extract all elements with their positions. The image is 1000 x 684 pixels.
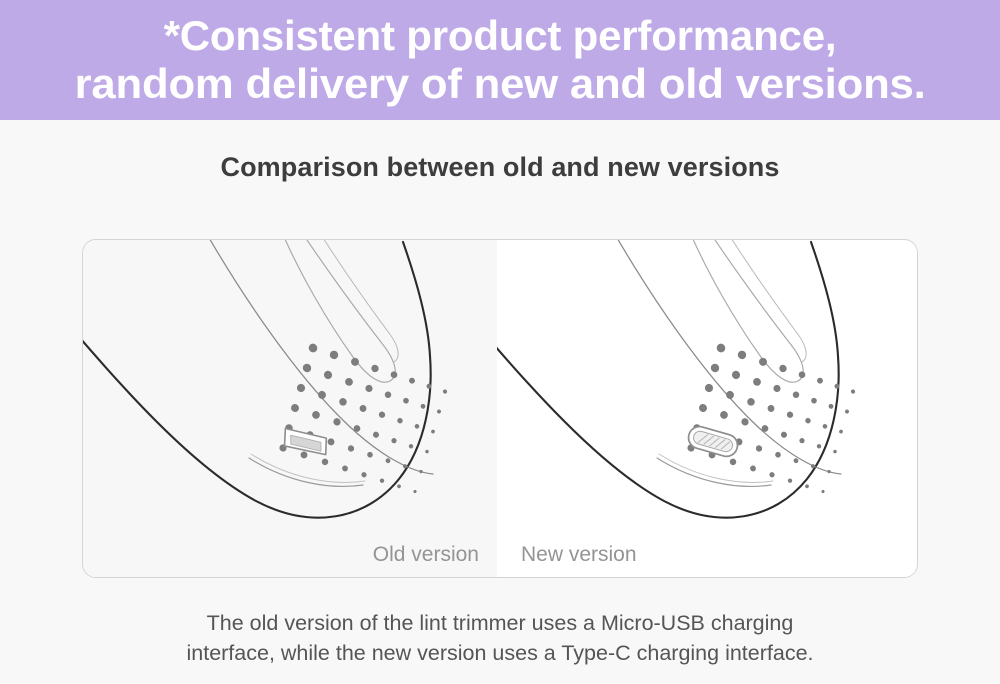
comparison-half-old: Old version <box>83 240 497 577</box>
promo-banner: *Consistent product performance, random … <box>0 0 1000 120</box>
section-title: Comparison between old and new versions <box>0 152 1000 183</box>
caption-old-version: Old version <box>373 543 479 567</box>
caption-new-version: New version <box>521 543 637 567</box>
type-c-port-icon <box>686 424 740 459</box>
product-comparison-page: *Consistent product performance, random … <box>0 0 1000 684</box>
comparison-panel: Old version <box>82 239 918 578</box>
description-line-2: interface, while the new version uses a … <box>0 638 1000 668</box>
comparison-half-new: New version <box>497 240 917 577</box>
new-version-device-illustration <box>497 240 909 546</box>
promo-banner-line-2: random delivery of new and old versions. <box>75 63 926 105</box>
device-lens-inner-left <box>313 240 398 362</box>
description-text: The old version of the lint trimmer uses… <box>0 608 1000 668</box>
device-lens-inner-right <box>721 240 806 362</box>
device-outline-left <box>83 242 431 518</box>
device-outline-right <box>497 242 839 518</box>
description-line-1: The old version of the lint trimmer uses… <box>0 608 1000 638</box>
promo-banner-line-1: *Consistent product performance, <box>164 15 837 57</box>
old-version-device-illustration <box>83 240 497 546</box>
